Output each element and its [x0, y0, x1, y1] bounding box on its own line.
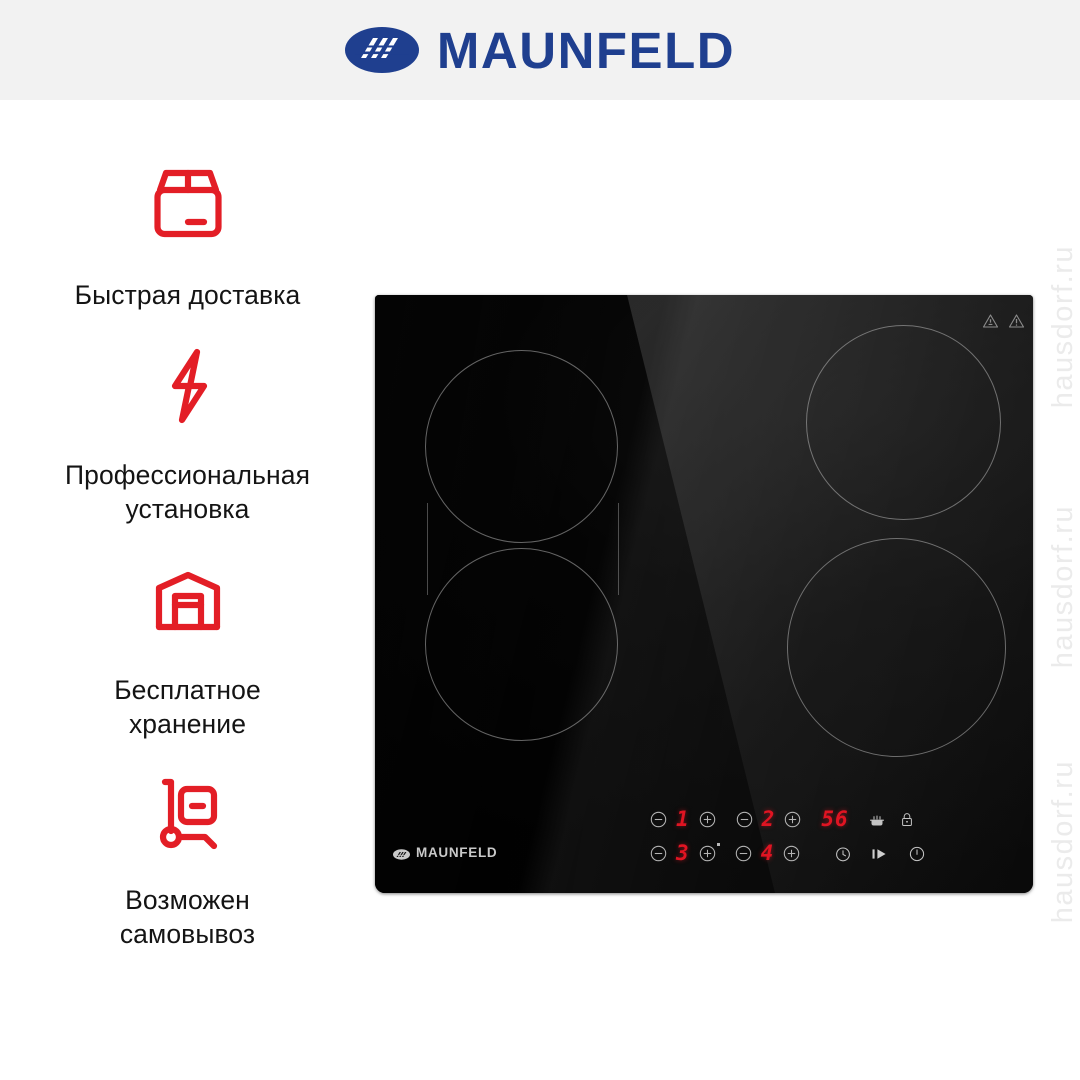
feature-label-storage-line1: Бесплатное: [114, 675, 261, 705]
timer-display-value: 56: [821, 809, 848, 830]
burner-ring-rear-right: [806, 325, 1001, 520]
zone3-indicator-dot: [717, 843, 720, 846]
zone2-minus-circle-icon[interactable]: [736, 811, 753, 828]
burner-ring-front-left: [425, 350, 618, 543]
brand-header: MAUNFELD: [0, 0, 1080, 100]
child-lock-icon[interactable]: [900, 812, 914, 827]
feature-label-pickup-line1: Возможен: [125, 885, 250, 915]
feature-item-delivery: Быстрая доставка: [0, 160, 375, 313]
zone4-plus-circle-icon[interactable]: [783, 845, 800, 862]
feature-label-installation-line2: установка: [125, 494, 249, 524]
feature-item-storage: Бесплатное хранение: [0, 555, 375, 742]
feature-label-storage: Бесплатное хранение: [114, 674, 261, 742]
feature-label-installation-line1: Профессиональная: [65, 460, 310, 490]
warning-triangle-hot-surface-icon: [982, 313, 999, 334]
hob-brand-logo: MAUNFELD: [393, 846, 497, 860]
watermark-text: hausdorf.ru: [1047, 505, 1078, 668]
watermark-text: hausdorf.ru: [1047, 245, 1078, 408]
feature-list: Быстрая доставка Профессиональная устано…: [0, 100, 375, 1080]
warehouse-icon: [142, 555, 234, 652]
zone3-power-level: 3: [676, 843, 690, 864]
timer-clock-icon[interactable]: [835, 846, 851, 862]
hand-truck-icon: [142, 765, 234, 862]
brand-lockup: MAUNFELD: [345, 25, 735, 76]
maunfeld-ellipse-mark-icon: [345, 27, 419, 73]
brand-wordmark: MAUNFELD: [437, 25, 735, 76]
feature-item-installation: Профессиональная установка: [0, 340, 375, 527]
cooktop-product-image: MAUNFELD 1: [375, 295, 1033, 893]
feature-label-pickup-line2: самовывоз: [120, 919, 255, 949]
zone1-minus-circle-icon[interactable]: [650, 811, 667, 828]
burner-ring-rear-left: [425, 548, 618, 741]
lightning-bolt-icon: [142, 340, 234, 437]
feature-label-installation: Профессиональная установка: [65, 459, 310, 527]
zone1-power-level: 1: [676, 809, 690, 830]
zone2-power-level: 2: [762, 809, 776, 830]
feature-label-delivery: Быстрая доставка: [75, 279, 301, 313]
control-panel[interactable]: 1 2: [650, 805, 1020, 880]
control-row-2: 3 4: [650, 843, 925, 864]
zone2-plus-circle-icon[interactable]: [784, 811, 801, 828]
pause-play-icon[interactable]: [871, 847, 889, 861]
control-row-1: 1 2: [650, 809, 914, 830]
zone4-minus-circle-icon[interactable]: [735, 845, 752, 862]
feature-label-pickup: Возможен самовывоз: [120, 884, 255, 952]
feature-label-storage-line2: хранение: [129, 709, 246, 739]
watermark-text: hausdorf.ru: [1047, 760, 1078, 923]
warning-icons-group: [982, 313, 1025, 334]
feature-item-pickup: Возможен самовывоз: [0, 765, 375, 952]
maunfeld-hob-mark-icon: [393, 847, 410, 858]
bridge-zone-line-left: [427, 503, 428, 595]
bridge-zone-line-right: [618, 503, 619, 595]
zone4-power-level: 4: [761, 843, 775, 864]
zone1-plus-circle-icon[interactable]: [699, 811, 716, 828]
warning-triangle-caution-icon: [1008, 313, 1025, 334]
keep-warm-pot-icon[interactable]: [869, 813, 885, 827]
zone3-plus-circle-icon[interactable]: [699, 845, 716, 862]
package-box-icon: [142, 160, 234, 257]
zone3-minus-circle-icon[interactable]: [650, 845, 667, 862]
hob-brand-label: MAUNFELD: [416, 846, 497, 860]
burner-ring-front-right: [787, 538, 1006, 757]
power-button-icon[interactable]: [909, 846, 925, 862]
